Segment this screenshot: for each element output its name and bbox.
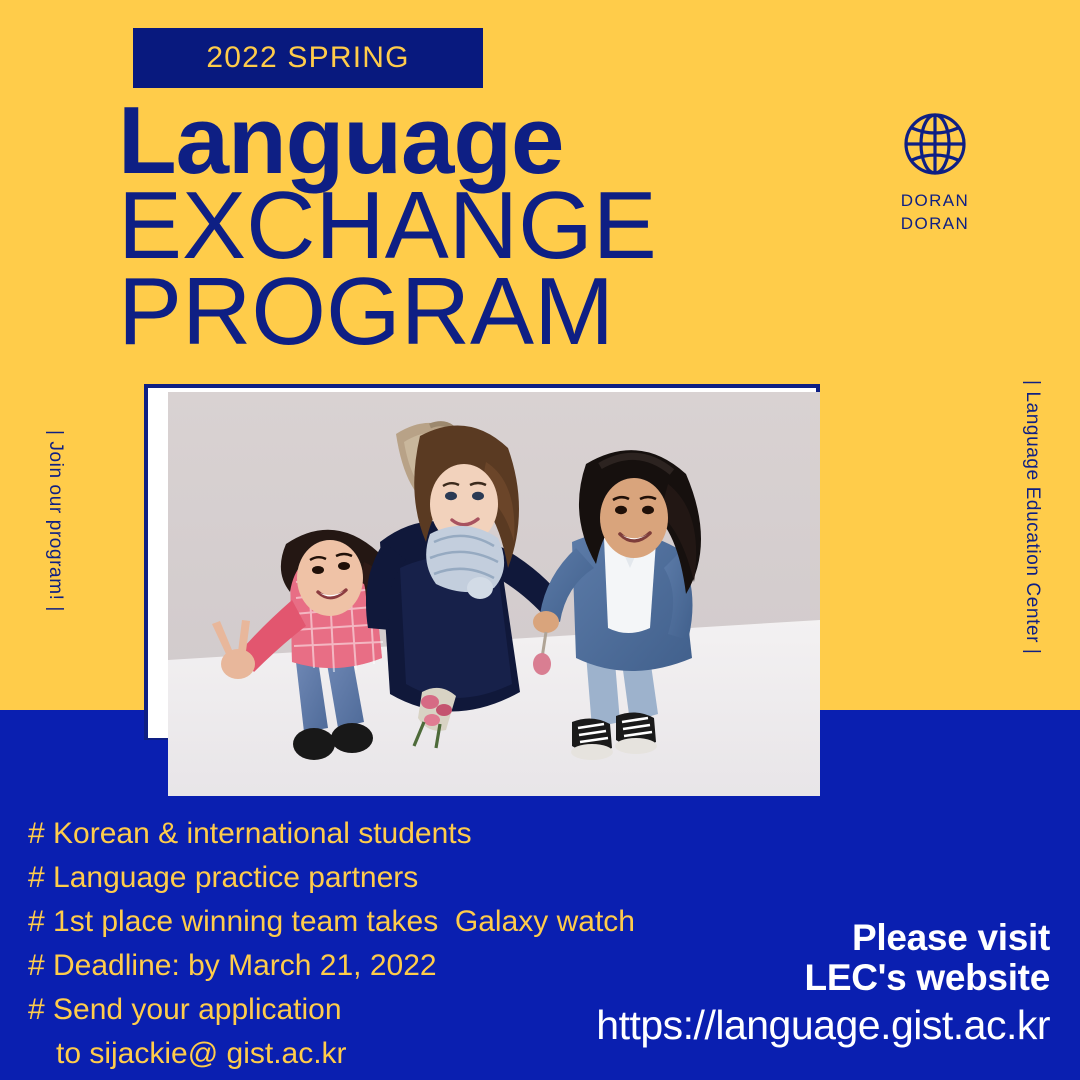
page-title: Language EXCHANGE PROGRAM: [118, 96, 657, 356]
list-item: # Send your application: [28, 988, 635, 1032]
season-badge: 2022 SPRING: [133, 28, 483, 88]
list-item: to sijackie@ gist.ac.kr: [28, 1032, 635, 1076]
hero-photo: [168, 392, 820, 796]
website-cta: Please visit LEC's website https://langu…: [596, 918, 1050, 1049]
list-item: # Korean & international students: [28, 812, 635, 856]
list-item: # Language practice partners: [28, 856, 635, 900]
side-label-right: | Language Education Center |: [1021, 380, 1043, 654]
brand-name: DORAN DORAN: [875, 190, 995, 236]
website-cta-line1: Please visit: [596, 918, 1050, 958]
brand-name-line2: DORAN: [875, 213, 995, 236]
season-badge-label: 2022 SPRING: [206, 41, 409, 75]
poster-canvas: 2022 SPRING Language EXCHANGE PROGRAM DO…: [0, 0, 1080, 1080]
brand-name-line1: DORAN: [875, 190, 995, 213]
side-label-left: | Join our program! |: [44, 430, 66, 612]
list-item: # Deadline: by March 21, 2022: [28, 944, 635, 988]
website-cta-line2: LEC's website: [596, 958, 1050, 998]
globe-icon: [875, 108, 995, 180]
brand-logo: DORAN DORAN: [875, 108, 995, 236]
website-url[interactable]: https://language.gist.ac.kr: [596, 1002, 1050, 1049]
list-item: # 1st place winning team takes Galaxy wa…: [28, 900, 635, 944]
details-list: # Korean & international students # Lang…: [28, 812, 635, 1077]
title-line-program: PROGRAM: [118, 267, 657, 356]
